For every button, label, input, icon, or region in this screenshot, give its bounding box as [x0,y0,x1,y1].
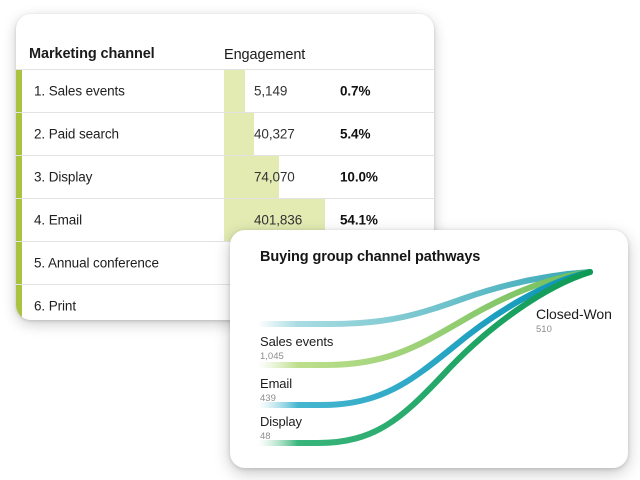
channel-name: 6. Print [34,299,76,314]
pathway-value-sales-events: 1,045 [260,351,284,362]
channel-name: 1. Sales events [34,84,125,99]
channel-name: 4. Email [34,213,82,228]
table-row[interactable]: 3. Display74,07010.0% [16,155,434,198]
engagement-value: 401,836 [254,213,302,228]
engagement-percent: 0.7% [340,84,370,99]
buying-group-pathways-card: Buying group channel pathways [230,230,628,468]
table-row[interactable]: 2. Paid search40,3275.4% [16,112,434,155]
table-row[interactable]: 1. Sales events5,1490.7% [16,69,434,112]
pathway-label-closed-won: Closed-Won [536,306,612,322]
engagement-value: 74,070 [254,170,295,185]
engagement-value: 5,149 [254,84,287,99]
pathways-chart [230,230,628,468]
engagement-percent: 54.1% [340,213,378,228]
pathway-curve-4 [258,272,590,443]
pathway-label-email: Email [260,376,292,391]
engagement-value: 40,327 [254,127,295,142]
pathway-label-sales-events: Sales events [260,334,333,349]
channel-name: 3. Display [34,170,92,185]
engagement-bar [224,113,254,155]
engagement-bar [224,70,245,112]
pathway-value-email: 439 [260,393,276,404]
table-header: Marketing channel Engagement [16,14,434,69]
pathway-value-display: 48 [260,431,271,442]
column-header-engagement: Engagement [224,47,305,63]
engagement-percent: 10.0% [340,170,378,185]
pathway-value-closed-won: 510 [536,324,552,335]
channel-name: 2. Paid search [34,127,119,142]
engagement-percent: 5.4% [340,127,370,142]
channel-name: 5. Annual conference [34,256,159,271]
column-header-marketing-channel: Marketing channel [29,46,155,62]
pathway-label-display: Display [260,414,302,429]
